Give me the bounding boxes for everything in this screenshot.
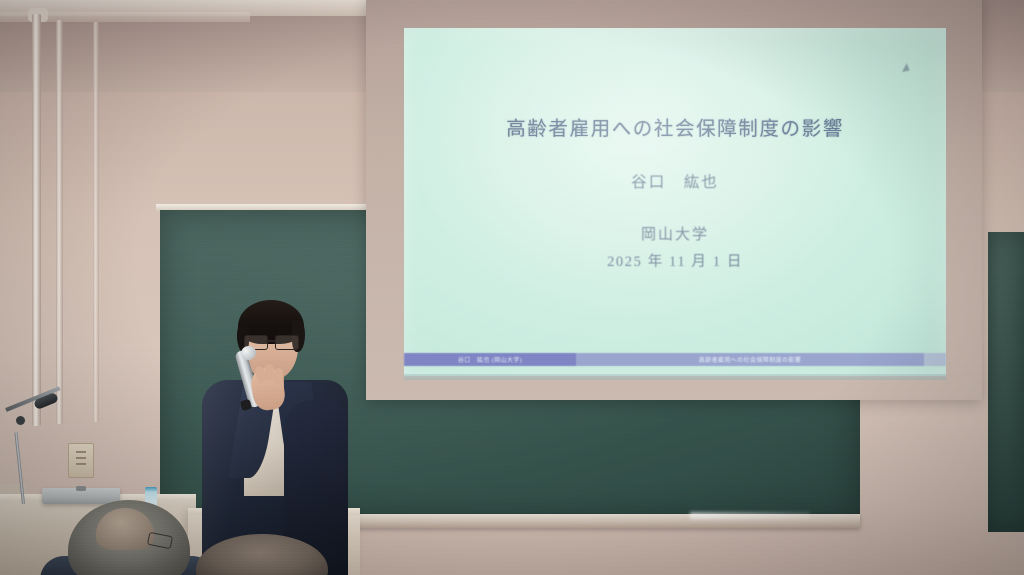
laptop-hinge — [76, 486, 86, 491]
slide-date: 2025 年 11 月 1 日 — [404, 250, 946, 271]
lecture-hall-photo: 高齢者雇用への社会保障制度の影響 谷口 紘也 岡山大学 2025 年 11 月 … — [0, 0, 1024, 575]
microphone-stand-joint — [16, 416, 25, 425]
presentation-slide: 高齢者雇用への社会保障制度の影響 谷口 紘也 岡山大学 2025 年 11 月 … — [404, 28, 946, 376]
presenter-finger — [273, 368, 283, 386]
slide-footer-page — [924, 353, 946, 366]
chalk-dust — [690, 512, 810, 519]
wall-outlet — [68, 443, 94, 478]
slide-footer: 谷口 紘也 (岡山大学) 高齢者雇用への社会保障制度の影響 — [404, 353, 946, 366]
slide-footer-author: 谷口 紘也 (岡山大学) — [404, 353, 576, 366]
slide-footer-title: 高齢者雇用への社会保障制度の影響 — [576, 353, 924, 366]
slide-author: 谷口 紘也 — [404, 170, 946, 192]
slide-title: 高齢者雇用への社会保障制度の影響 — [404, 112, 946, 141]
wall-pipe — [93, 22, 99, 422]
blackboard-right — [988, 232, 1024, 532]
mouse-pointer-icon — [902, 63, 912, 75]
projection-screen-lip — [404, 374, 946, 380]
wall-pipe — [32, 14, 41, 426]
presenter — [196, 296, 356, 575]
wall-pipe — [56, 20, 63, 424]
slide-affiliation: 岡山大学 — [404, 223, 946, 244]
